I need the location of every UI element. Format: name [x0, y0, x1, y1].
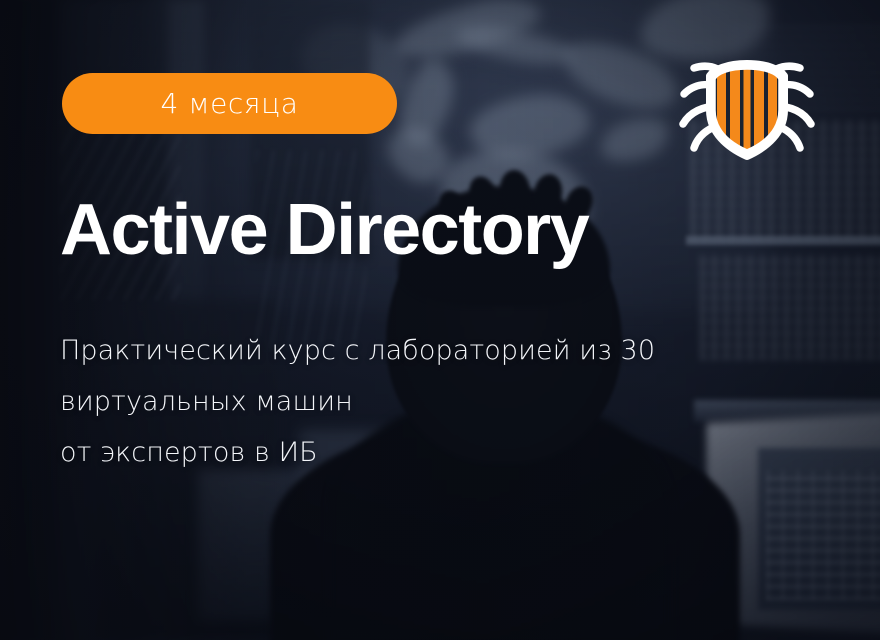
duration-badge-label: 4 месяца — [160, 87, 298, 120]
banner-content: 4 месяца Active Directory Практический к… — [0, 0, 880, 640]
subtitle-line-1: Практический курс с лабораторией из 30 — [60, 325, 655, 376]
page-title: Active Directory — [60, 194, 588, 266]
duration-badge: 4 месяца — [62, 73, 397, 134]
course-promo-banner: 4 месяца Active Directory Практический к… — [0, 0, 880, 640]
subtitle-line-3: от экспертов в ИБ — [60, 427, 655, 478]
beetle-shield-logo-icon — [672, 48, 822, 168]
subtitle-line-2: виртуальных машин — [60, 376, 655, 427]
course-subtitle: Практический курс с лабораторией из 30 в… — [60, 325, 655, 478]
beetle-shield-svg — [672, 48, 822, 168]
